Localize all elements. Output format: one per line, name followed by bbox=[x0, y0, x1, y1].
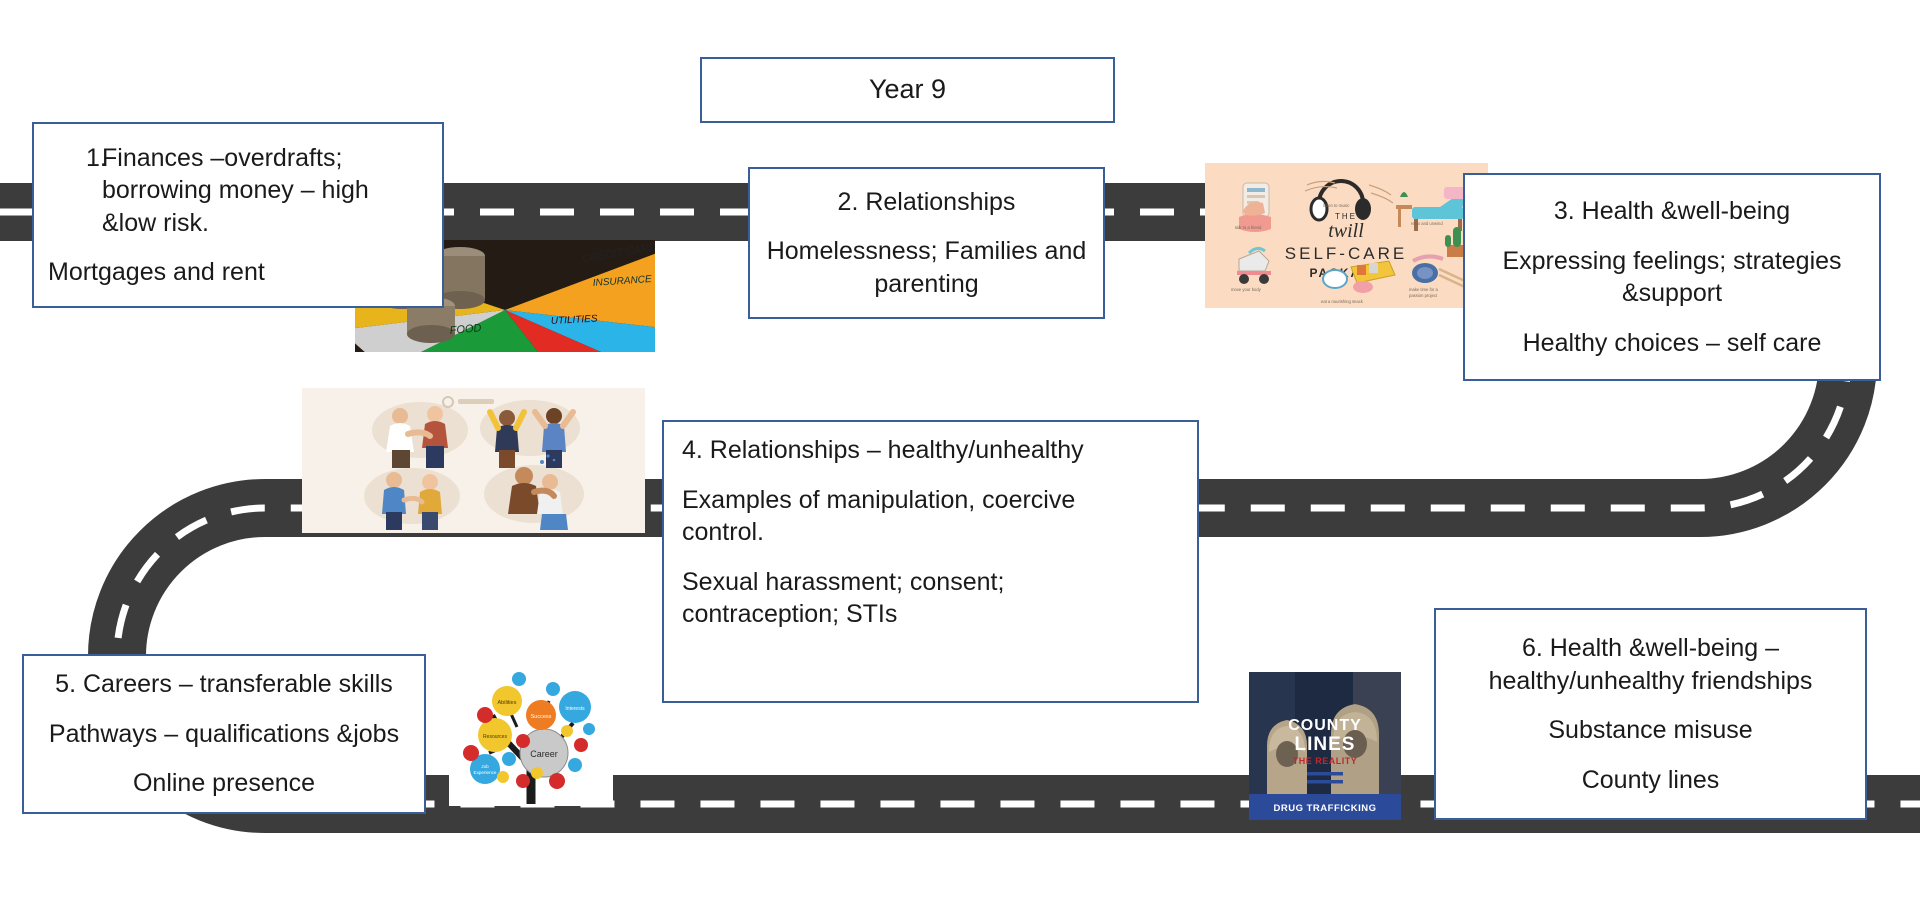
career-skills-tree-diagram: Career Abilities Success Resources Job E… bbox=[449, 649, 613, 806]
svg-text:eat a nourishing snack: eat a nourishing snack bbox=[1321, 299, 1364, 304]
topic-4-heading: 4. Relationships – healthy/unhealthy bbox=[682, 434, 1179, 467]
topic-6-text-2: healthy/unhealthy friendships bbox=[1489, 665, 1813, 698]
svg-text:move your body: move your body bbox=[1231, 287, 1262, 292]
topic-1-text-4: Mortgages and rent bbox=[48, 256, 434, 289]
svg-text:Resources: Resources bbox=[483, 734, 507, 740]
svg-text:Career: Career bbox=[530, 749, 558, 759]
topic-1-line-2: borrowing money – high bbox=[48, 174, 434, 207]
svg-text:twill: twill bbox=[1328, 220, 1364, 242]
topic-2-heading: 2. Relationships bbox=[838, 186, 1016, 219]
topic-box-6-health-friendships[interactable]: 6. Health &well-being – healthy/unhealth… bbox=[1434, 608, 1867, 820]
topic-6-text-4: County lines bbox=[1582, 764, 1720, 797]
topic-6-heading: 6. Health &well-being – bbox=[1522, 632, 1779, 665]
topic-4-text-2: Examples of manipulation, coercive bbox=[682, 484, 1179, 517]
svg-text:passion project: passion project bbox=[1409, 293, 1438, 298]
county-lines-drug-trafficking-poster: COUNTY LINES THE REALITY DRUG TRAFFICKIN… bbox=[1249, 672, 1401, 820]
topic-5-heading: 5. Careers – transferable skills bbox=[55, 668, 393, 701]
svg-text:Job: Job bbox=[481, 764, 489, 769]
topic-3-text-3: &support bbox=[1622, 277, 1722, 310]
topic-1-heading: Finances –overdrafts; bbox=[102, 142, 434, 175]
topic-1-line-3: &low risk. bbox=[48, 207, 434, 240]
topic-5-text-2: Pathways – qualifications &jobs bbox=[49, 718, 399, 751]
topic-3-text-4: Healthy choices – self care bbox=[1523, 327, 1822, 360]
svg-text:Interests: Interests bbox=[565, 706, 585, 712]
page-title: Year 9 bbox=[869, 72, 946, 107]
slide-canvas: CREDIT CARDS INSURANCE UTILITIES FOOD bbox=[0, 0, 1920, 905]
svg-text:relax and unwind: relax and unwind bbox=[1411, 221, 1443, 226]
topic-5-text-3: Online presence bbox=[133, 767, 315, 800]
svg-text:LINES: LINES bbox=[1295, 734, 1356, 755]
topic-1-number: 1. bbox=[48, 142, 102, 175]
svg-text:COUNTY: COUNTY bbox=[1288, 717, 1362, 734]
topic-6-text-3: Substance misuse bbox=[1548, 714, 1752, 747]
svg-text:DRUG TRAFFICKING: DRUG TRAFFICKING bbox=[1274, 803, 1377, 814]
svg-text:THE REALITY: THE REALITY bbox=[1293, 756, 1358, 766]
topic-box-3-health-wellbeing[interactable]: 3. Health &well-being Expressing feeling… bbox=[1463, 173, 1881, 381]
svg-text:talk to a friend: talk to a friend bbox=[1235, 225, 1262, 230]
svg-text:Success: Success bbox=[531, 714, 552, 720]
svg-text:Abilities: Abilities bbox=[498, 700, 517, 706]
topic-3-heading: 3. Health &well-being bbox=[1554, 195, 1790, 228]
svg-text:listen to music: listen to music bbox=[1323, 203, 1350, 208]
topic-1-text-2: borrowing money – high bbox=[102, 174, 434, 207]
topic-box-4-healthy-relationships[interactable]: 4. Relationships – healthy/unhealthy Exa… bbox=[662, 420, 1199, 703]
topic-2-text-2: Homelessness; Families and bbox=[767, 235, 1087, 268]
self-care-package-poster: THE twill SELF-CARE PACKAGE bbox=[1205, 163, 1488, 308]
svg-text:Experience: Experience bbox=[474, 770, 497, 775]
topic-3-text-2: Expressing feelings; strategies bbox=[1502, 245, 1841, 278]
topic-box-5-careers[interactable]: 5. Careers – transferable skills Pathway… bbox=[22, 654, 426, 814]
topic-1-text-3: &low risk. bbox=[102, 207, 434, 240]
svg-text:SELF-CARE: SELF-CARE bbox=[1285, 244, 1407, 263]
topic-2-text-3: parenting bbox=[874, 268, 978, 301]
topic-1-line-1: 1. Finances –overdrafts; bbox=[48, 142, 434, 175]
slide-title-box: Year 9 bbox=[700, 57, 1115, 123]
topic-4-text-5: contraception; STIs bbox=[682, 598, 1179, 631]
topic-4-text-3: control. bbox=[682, 516, 1179, 549]
topic-box-1-finances[interactable]: 1. Finances –overdrafts; borrowing money… bbox=[32, 122, 444, 308]
relationships-people-illustration bbox=[302, 388, 645, 533]
svg-text:make time for a: make time for a bbox=[1409, 287, 1439, 292]
topic-box-2-relationships[interactable]: 2. Relationships Homelessness; Families … bbox=[748, 167, 1105, 319]
topic-4-text-4: Sexual harassment; consent; bbox=[682, 566, 1179, 599]
